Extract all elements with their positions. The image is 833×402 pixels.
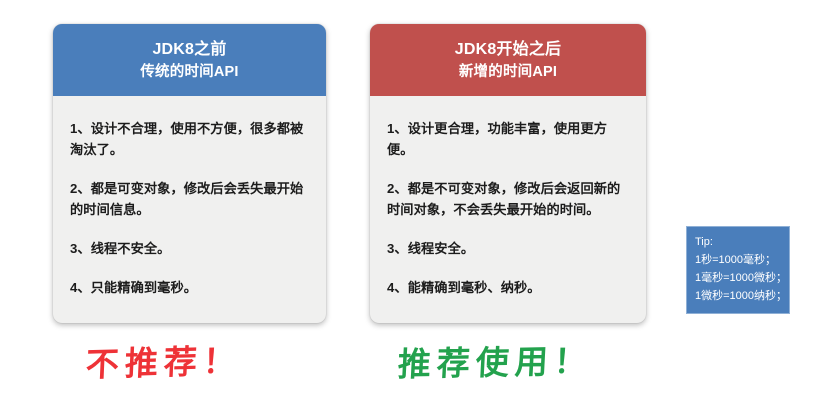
card-after-header: JDK8开始之后 新增的时间API (370, 24, 646, 96)
tip-line-milliseconds: 1毫秒=1000微秒； (695, 269, 782, 287)
list-item: 2、都是不可变对象，修改后会返回新的时间对象，不会丢失最开始的时间。 (387, 178, 629, 220)
list-item: 1、设计不合理，使用不方便，很多都被淘汰了。 (70, 118, 309, 160)
list-item: 2、都是可变对象，修改后会丢失最开始的时间信息。 (70, 178, 309, 220)
list-item: 3、线程安全。 (387, 238, 629, 259)
card-before-header: JDK8之前 传统的时间API (53, 24, 326, 96)
card-jdk8-after: JDK8开始之后 新增的时间API 1、设计更合理，功能丰富，使用更方便。 2、… (370, 24, 646, 323)
tip-line-microseconds: 1微秒=1000纳秒； (695, 287, 782, 305)
card-jdk8-before: JDK8之前 传统的时间API 1、设计不合理，使用不方便，很多都被淘汰了。 2… (53, 24, 326, 323)
slide-canvas: JDK8之前 传统的时间API 1、设计不合理，使用不方便，很多都被淘汰了。 2… (0, 0, 833, 402)
card-before-subtitle: 传统的时间API (140, 62, 238, 82)
card-after-subtitle: 新增的时间API (459, 62, 557, 82)
card-after-body: 1、设计更合理，功能丰富，使用更方便。 2、都是不可变对象，修改后会返回新的时间… (370, 96, 646, 323)
list-item: 3、线程不安全。 (70, 238, 309, 259)
list-item: 4、能精确到毫秒、纳秒。 (387, 277, 629, 298)
card-after-title: JDK8开始之后 (455, 39, 562, 60)
verdict-not-recommended: 不推荐！ (85, 334, 243, 386)
card-before-body: 1、设计不合理，使用不方便，很多都被淘汰了。 2、都是可变对象，修改后会丢失最开… (53, 96, 326, 323)
tip-title: Tip: (695, 233, 782, 251)
tip-line-seconds: 1秒=1000毫秒； (695, 251, 782, 269)
verdict-recommended: 推荐使用！ (397, 334, 594, 385)
card-before-title: JDK8之前 (152, 39, 226, 60)
tip-box: Tip: 1秒=1000毫秒； 1毫秒=1000微秒； 1微秒=1000纳秒； (686, 226, 790, 314)
list-item: 4、只能精确到毫秒。 (70, 277, 309, 298)
list-item: 1、设计更合理，功能丰富，使用更方便。 (387, 118, 629, 160)
